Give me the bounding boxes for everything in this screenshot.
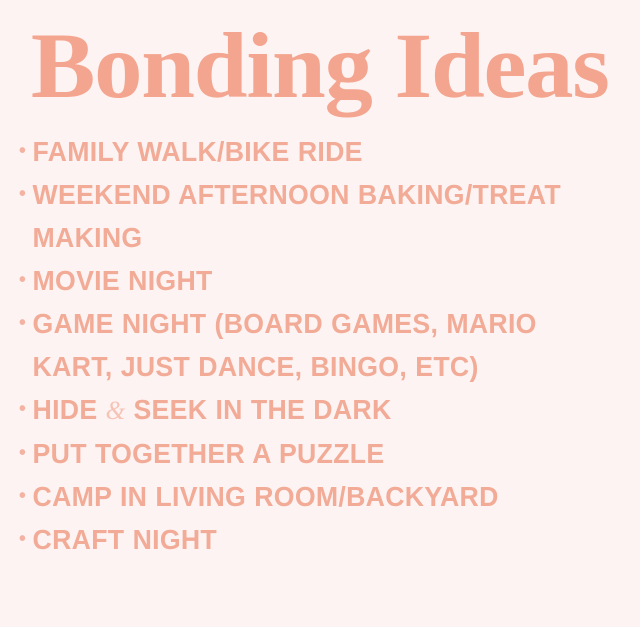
list-item: • CAMP IN LIVING ROOM/BACKYARD (18, 475, 604, 518)
bullet-icon: • (19, 432, 31, 475)
bullet-icon: • (19, 130, 31, 173)
list-item: • GAME NIGHT (BOARD GAMES, MARIO KART, J… (18, 302, 604, 388)
bullet-icon: • (19, 518, 31, 561)
bullet-icon: • (19, 173, 31, 216)
bullet-icon: • (19, 259, 31, 302)
ampersand-glyph: & (106, 396, 126, 425)
bullet-icon: • (19, 475, 31, 518)
list-item: •HIDE & SEEK IN THE DARK (18, 388, 604, 432)
list-item-label: GAME NIGHT (BOARD GAMES, MARIO KART, JUS… (33, 308, 537, 382)
list-item-label: PUT TOGETHER A PUZZLE (33, 438, 385, 469)
list-item-label: FAMILY WALK/BIKE RIDE (33, 136, 363, 167)
list-item: • MOVIE NIGHT (18, 259, 604, 302)
bullet-icon: • (19, 388, 31, 431)
list-item-label-before-ampersand: HIDE (33, 394, 106, 425)
list-item: • PUT TOGETHER A PUZZLE (18, 432, 604, 475)
list-item-label: CAMP IN LIVING ROOM/BACKYARD (33, 481, 499, 512)
bullet-icon: • (19, 302, 31, 345)
title-container: Bonding Ideas (0, 14, 640, 118)
list-item-label: MOVIE NIGHT (33, 265, 213, 296)
list-item: • FAMILY WALK/BIKE RIDE (18, 130, 604, 173)
page-title: Bonding Ideas (31, 20, 609, 113)
list-item: • CRAFT NIGHT (18, 518, 604, 561)
bonding-ideas-poster: Bonding Ideas • FAMILY WALK/BIKE RIDE • … (0, 0, 640, 627)
list-item-label: WEEKEND AFTERNOON BAKING/TREAT MAKING (33, 179, 561, 253)
ideas-list: • FAMILY WALK/BIKE RIDE • WEEKEND AFTERN… (18, 130, 622, 561)
list-item: • WEEKEND AFTERNOON BAKING/TREAT MAKING (18, 173, 604, 259)
list-item-label: CRAFT NIGHT (33, 524, 217, 555)
list-item-label-after-ampersand: SEEK IN THE DARK (125, 394, 391, 425)
